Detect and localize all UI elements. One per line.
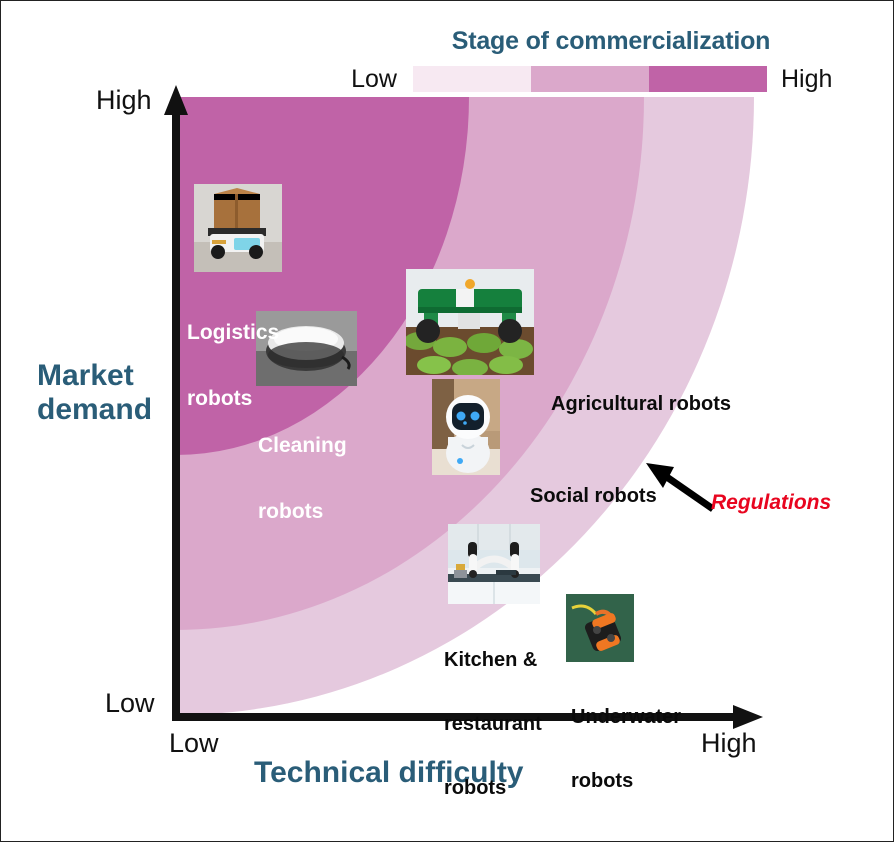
y-axis-title-line2: demand xyxy=(37,393,152,427)
label-underwater-line2: robots xyxy=(571,771,681,792)
label-kitchen-line1: Kitchen & xyxy=(444,650,542,671)
kitchen-robot-photo xyxy=(448,524,540,604)
robot-market-positioning-figure: Stage of commercialization Low High xyxy=(0,0,894,842)
label-cleaning-line2: robots xyxy=(258,501,347,523)
regulations-arrow-shaft xyxy=(661,473,713,509)
x-axis-arrowhead xyxy=(733,705,763,729)
label-logistics-line1: Logistics xyxy=(187,322,279,344)
underwater-robot-photo xyxy=(566,594,634,662)
label-kitchen-restaurant-robots: Kitchen & restaurant robots xyxy=(444,608,542,841)
label-cleaning-line1: Cleaning xyxy=(258,435,347,457)
x-axis-high-label: High xyxy=(701,728,757,759)
y-axis-low-label: Low xyxy=(105,688,155,719)
label-cleaning-robots: Cleaning robots xyxy=(258,390,347,568)
logistics-robot-photo xyxy=(194,184,282,272)
label-kitchen-line3: robots xyxy=(444,778,542,799)
label-social-line1: Social robots xyxy=(530,486,657,507)
label-agricultural-line1: Agricultural robots xyxy=(551,394,731,415)
label-social-robots: Social robots xyxy=(530,444,657,550)
regulations-annotation: Regulations xyxy=(711,491,831,515)
y-axis-title-line1: Market xyxy=(37,359,152,393)
label-underwater-robots: Underwater robots xyxy=(571,665,681,835)
agricultural-robot-photo xyxy=(406,269,534,375)
social-robot-photo xyxy=(432,379,500,475)
label-agricultural-robots: Agricultural robots xyxy=(551,352,731,458)
x-axis-low-label: Low xyxy=(169,728,219,759)
label-underwater-line1: Underwater xyxy=(571,707,681,728)
label-kitchen-line2: restaurant xyxy=(444,714,542,735)
y-axis-title: Market demand xyxy=(37,359,152,426)
y-axis-high-label: High xyxy=(96,85,152,116)
